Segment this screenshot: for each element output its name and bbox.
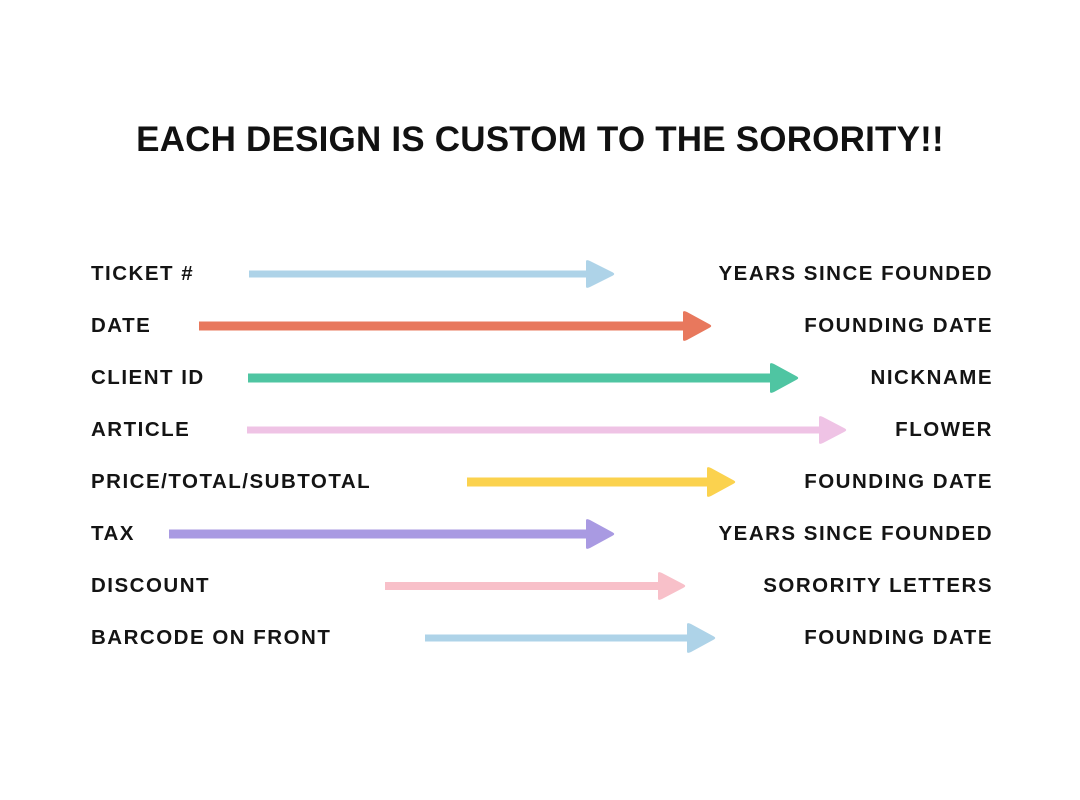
right-arrow-icon — [248, 352, 800, 404]
right-arrow-icon — [247, 404, 848, 456]
source-label-ticket-number: TICKET # — [91, 248, 194, 300]
right-arrow-icon — [385, 560, 687, 612]
mapping-row: TICKET #YEARS SINCE FOUNDED — [0, 248, 1080, 300]
right-arrow-icon — [199, 300, 713, 352]
mapping-row: BARCODE ON FRONTFOUNDING DATE — [0, 612, 1080, 664]
target-label-discount: SORORITY LETTERS — [763, 560, 993, 612]
mapping-row: PRICE/TOTAL/SUBTOTALFOUNDING DATE — [0, 456, 1080, 508]
mapping-row: TAXYEARS SINCE FOUNDED — [0, 508, 1080, 560]
target-label-price-total-subtotal: FOUNDING DATE — [804, 456, 993, 508]
target-label-barcode-on-front: FOUNDING DATE — [804, 612, 993, 664]
right-arrow-icon — [467, 456, 737, 508]
target-label-article: FLOWER — [895, 404, 993, 456]
source-label-barcode-on-front: BARCODE ON FRONT — [91, 612, 331, 664]
mapping-row: CLIENT IDNICKNAME — [0, 352, 1080, 404]
page-title: EACH DESIGN IS CUSTOM TO THE SORORITY!! — [0, 118, 1080, 162]
mapping-list: TICKET #YEARS SINCE FOUNDEDDATEFOUNDING … — [0, 248, 1080, 664]
right-arrow-icon — [249, 248, 616, 300]
right-arrow-icon — [425, 612, 717, 664]
mapping-row: ARTICLEFLOWER — [0, 404, 1080, 456]
source-label-tax: TAX — [91, 508, 135, 560]
slide-canvas: EACH DESIGN IS CUSTOM TO THE SORORITY!! … — [0, 0, 1080, 800]
target-label-ticket-number: YEARS SINCE FOUNDED — [718, 248, 993, 300]
source-label-article: ARTICLE — [91, 404, 190, 456]
mapping-row: DATEFOUNDING DATE — [0, 300, 1080, 352]
target-label-date: FOUNDING DATE — [804, 300, 993, 352]
mapping-row: DISCOUNTSORORITY LETTERS — [0, 560, 1080, 612]
source-label-client-id: CLIENT ID — [91, 352, 205, 404]
source-label-discount: DISCOUNT — [91, 560, 210, 612]
right-arrow-icon — [169, 508, 616, 560]
source-label-price-total-subtotal: PRICE/TOTAL/SUBTOTAL — [91, 456, 371, 508]
target-label-client-id: NICKNAME — [871, 352, 993, 404]
source-label-date: DATE — [91, 300, 151, 352]
target-label-tax: YEARS SINCE FOUNDED — [718, 508, 993, 560]
